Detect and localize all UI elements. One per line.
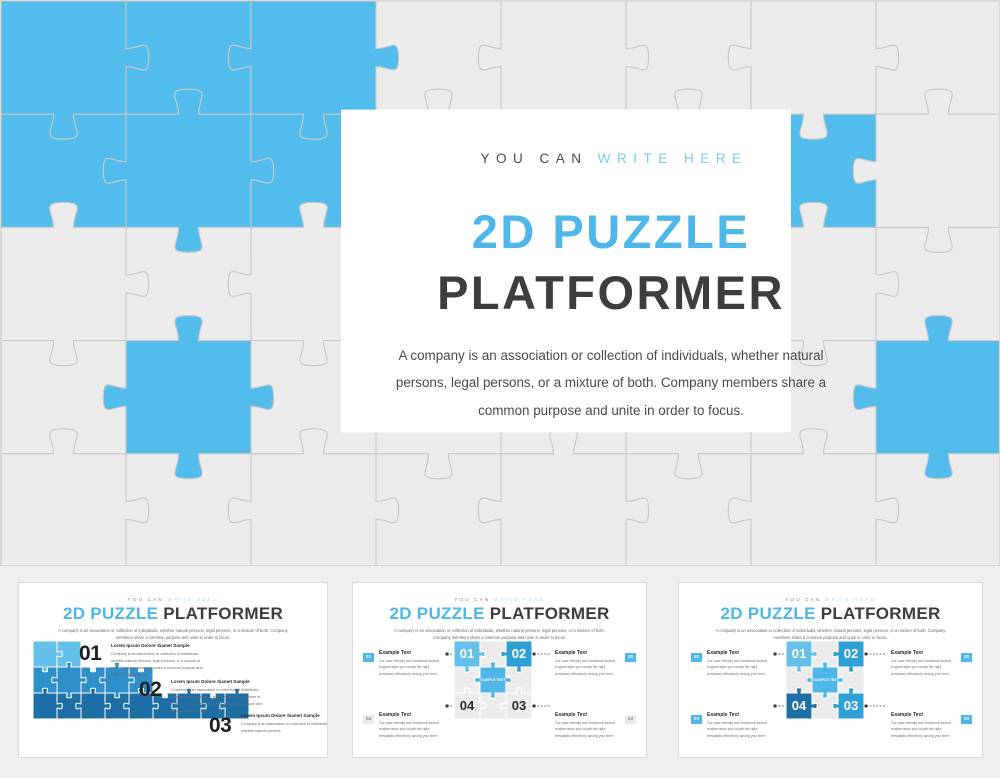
thumb1-item-03-text: Company is an association or collection …: [241, 721, 328, 735]
thumb3-callout-01-heading: Example Text: [707, 650, 773, 656]
thumb2-badge-02[interactable]: 02: [625, 653, 636, 662]
center-label: SAMPLE TEXT: [480, 678, 506, 682]
thumb1-eyebrow-dark: YOU CAN: [128, 597, 164, 602]
thumb3-badge-03[interactable]: 03: [961, 715, 972, 724]
thumb3-callout-02-text: Our user-friendly and functional search …: [891, 658, 957, 677]
thumb3-callout-04-heading: Example Text: [707, 712, 773, 718]
connector-dot: [532, 704, 535, 707]
connector-dot: [773, 652, 776, 655]
thumb2-callout-04-heading: Example Text: [379, 712, 445, 718]
thumb3-eyebrow-dark: YOU CAN: [785, 597, 821, 602]
thumb1-number-01: 01: [79, 643, 101, 664]
thumb1-item-01-heading: Lorem Ipsum Dolore Siamet Sample: [111, 643, 203, 649]
thumb1-number-02: 02: [139, 679, 161, 700]
thumb2-title-dark: PLATFORMER: [490, 604, 610, 623]
thumb3-eyebrow: YOU CAN WRITE HERE: [679, 597, 982, 602]
thumb2-badge-03[interactable]: 03: [625, 715, 636, 724]
thumb2-callout-01-heading: Example Text: [379, 650, 445, 656]
thumb3-callout-04-text: Our user-friendly and functional search …: [707, 720, 773, 739]
connector-dot: [773, 704, 776, 707]
thumb3-eyebrow-blue: WRITE HERE: [825, 597, 876, 602]
eyebrow-blue: WRITE HERE: [598, 151, 748, 166]
thumb2-title-blue: 2D PUZZLE: [389, 604, 484, 623]
thumb3-callout-03-heading: Example Text: [891, 712, 957, 718]
thumbnail-slide-2[interactable]: YOU CAN WRITE HERE 2D PUZZLE PLATFORMER …: [352, 582, 647, 758]
thumb1-title: 2D PUZZLE PLATFORMER: [19, 605, 327, 623]
thumb1-item-03: Lorem Ipsum Dolore Siamet Sample Company…: [241, 713, 328, 735]
thumb3-callout-04: Example Text Our user-friendly and funct…: [707, 712, 773, 739]
connector-dot: [864, 704, 867, 707]
thumb1-title-blue: 2D PUZZLE: [63, 604, 158, 623]
thumb1-item-02-heading: Lorem Ipsum Dolore Siamet Sample: [171, 679, 263, 685]
thumb3-title: 2D PUZZLE PLATFORMER: [679, 605, 982, 623]
connector-dot: [445, 652, 448, 655]
thumb1-item-02: Lorem Ipsum Dolore Siamet Sample Company…: [171, 679, 263, 714]
thumb2-callout-03: Example Text Our user-friendly and funct…: [555, 712, 621, 739]
center-label: EXAMPLE TEXT: [811, 678, 839, 682]
connector-dot: [532, 652, 535, 655]
thumbnail-slide-3[interactable]: YOU CAN WRITE HERE 2D PUZZLE PLATFORMER …: [678, 582, 983, 758]
thumbnail-slide-1[interactable]: YOU CAN WRITE HERE 2D PUZZLE PLATFORMER …: [18, 582, 328, 758]
thumb1-staircase: 01 Lorem Ipsum Dolore Siamet Sample Comp…: [27, 635, 321, 753]
quadrant-number: 03: [512, 698, 526, 713]
thumb2-callout-04: Example Text Our user-friendly and funct…: [379, 712, 445, 739]
thumb3-callout-03-text: Our user-friendly and functional search …: [891, 720, 957, 739]
thumb3-callout-02: Example Text Our user-friendly and funct…: [891, 650, 957, 677]
eyebrow-text: YOU CAN WRITE HERE: [351, 151, 871, 166]
thumb1-item-03-heading: Lorem Ipsum Dolore Siamet Sample: [241, 713, 328, 719]
thumb2-badge-04[interactable]: 04: [363, 715, 374, 724]
thumb2-quadrant-diagram: 01020304SAMPLE TEXT 01 Example Text Our …: [359, 633, 640, 753]
thumb1-item-01-text: Company is an association or collection …: [111, 651, 203, 678]
thumb2-callout-03-heading: Example Text: [555, 712, 621, 718]
title-main: 2D PUZZLE: [351, 208, 871, 255]
thumb3-quadrant-diagram: 01020304EXAMPLE TEXT 01 Example Text Our…: [687, 633, 976, 753]
quadrant-number: 02: [512, 646, 526, 661]
thumb3-callout-02-heading: Example Text: [891, 650, 957, 656]
thumb2-eyebrow-dark: YOU CAN: [454, 597, 490, 602]
thumb1-eyebrow: YOU CAN WRITE HERE: [19, 597, 327, 602]
thumb2-title: 2D PUZZLE PLATFORMER: [353, 605, 646, 623]
thumb3-callout-01-text: Our user-friendly and functional search …: [707, 658, 773, 677]
main-slide: YOU CAN WRITE HERE 2D PUZZLE PLATFORMER …: [0, 0, 1000, 566]
thumb1-title-dark: PLATFORMER: [163, 604, 283, 623]
thumb3-badge-02[interactable]: 02: [961, 653, 972, 662]
thumb2-callout-01-text: Our user-friendly and functional search …: [379, 658, 445, 677]
thumb2-eyebrow-blue: WRITE HERE: [494, 597, 545, 602]
quadrant-number: 03: [844, 698, 858, 713]
thumb3-title-dark: PLATFORMER: [821, 604, 941, 623]
thumb2-badge-01[interactable]: 01: [363, 653, 374, 662]
thumb1-item-02-text: Company is an association or collection …: [171, 687, 263, 714]
quadrant-number: 01: [460, 646, 474, 661]
quadrant-number: 04: [792, 698, 807, 713]
connector-dot: [864, 652, 867, 655]
thumb2-callout-03-text: Our user-friendly and functional search …: [555, 720, 621, 739]
thumb3-badge-04[interactable]: 04: [691, 715, 702, 724]
thumbnail-strip: YOU CAN WRITE HERE 2D PUZZLE PLATFORMER …: [0, 574, 1000, 778]
center-text-block: YOU CAN WRITE HERE 2D PUZZLE PLATFORMER …: [351, 151, 871, 431]
title-sub: PLATFORMER: [351, 269, 871, 316]
thumb2-callout-01: Example Text Our user-friendly and funct…: [379, 650, 445, 677]
quadrant-number: 01: [792, 646, 806, 661]
thumb2-callout-02-heading: Example Text: [555, 650, 621, 656]
thumb3-callout-01: Example Text Our user-friendly and funct…: [707, 650, 773, 677]
thumb3-title-blue: 2D PUZZLE: [720, 604, 815, 623]
thumb3-callout-03: Example Text Our user-friendly and funct…: [891, 712, 957, 739]
thumb2-callout-02: Example Text Our user-friendly and funct…: [555, 650, 621, 677]
thumb1-number-03: 03: [209, 715, 231, 736]
thumb2-eyebrow: YOU CAN WRITE HERE: [353, 597, 646, 602]
body-paragraph: A company is an association or collectio…: [376, 342, 846, 424]
eyebrow-dark: YOU CAN: [480, 151, 587, 166]
thumb1-eyebrow-blue: WRITE HERE: [167, 597, 218, 602]
quadrant-number: 02: [844, 646, 858, 661]
thumb2-callout-02-text: Our user-friendly and functional search …: [555, 658, 621, 677]
quadrant-number: 04: [460, 698, 475, 713]
thumb1-item-01: Lorem Ipsum Dolore Siamet Sample Company…: [111, 643, 203, 678]
connector-dot: [445, 704, 448, 707]
thumb3-badge-01[interactable]: 01: [691, 653, 702, 662]
thumb2-callout-04-text: Our user-friendly and functional search …: [379, 720, 445, 739]
